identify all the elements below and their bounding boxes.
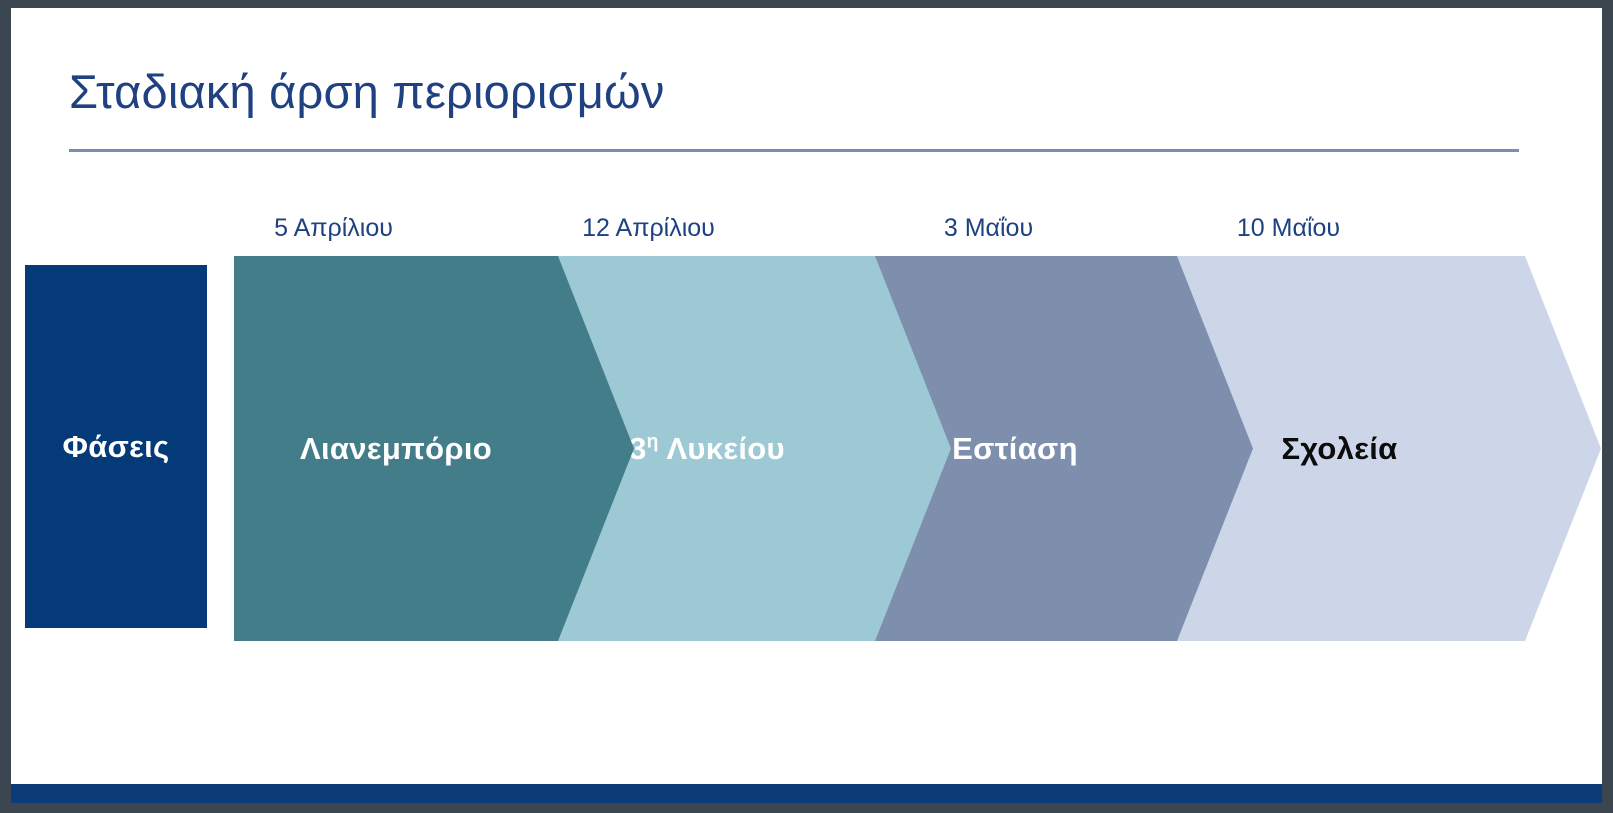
- phase-chevron-label-retail: Λιανεμπόριο: [234, 431, 558, 467]
- slide-canvas: Σταδιακή άρση περιορισμών 5 Απρίλιου 12 …: [11, 8, 1602, 803]
- timeline-date-1: 5 Απρίλιου: [201, 214, 466, 243]
- title-divider: [69, 149, 1519, 152]
- timeline-date-row: 5 Απρίλιου 12 Απρίλιου 3 Μαΐου 10 Μαΐου: [11, 214, 1602, 254]
- footer-accent-bar: [11, 784, 1602, 803]
- page-title: Σταδιακή άρση περιορισμών: [69, 66, 1369, 119]
- window-frame: Σταδιακή άρση περιορισμών 5 Απρίλιου 12 …: [0, 0, 1613, 813]
- phase-start-label: Φάσεις: [63, 429, 170, 465]
- phase-chevron-band: Σχολεία Εστίαση 3η Λυκείου Λιανεμπόριο Φ…: [11, 256, 1602, 648]
- timeline-date-2: 12 Απρίλιου: [516, 214, 781, 243]
- timeline-date-3: 3 Μαΐου: [856, 214, 1121, 243]
- phase-label-rest: Λυκείου: [659, 431, 785, 466]
- phase-start-block[interactable]: Φάσεις: [25, 265, 207, 628]
- timeline-date-4: 10 Μαΐου: [1156, 214, 1421, 243]
- phase-label-ordinal-suffix: η: [647, 431, 659, 452]
- phase-chevron-retail[interactable]: Λιανεμπόριο: [234, 256, 634, 641]
